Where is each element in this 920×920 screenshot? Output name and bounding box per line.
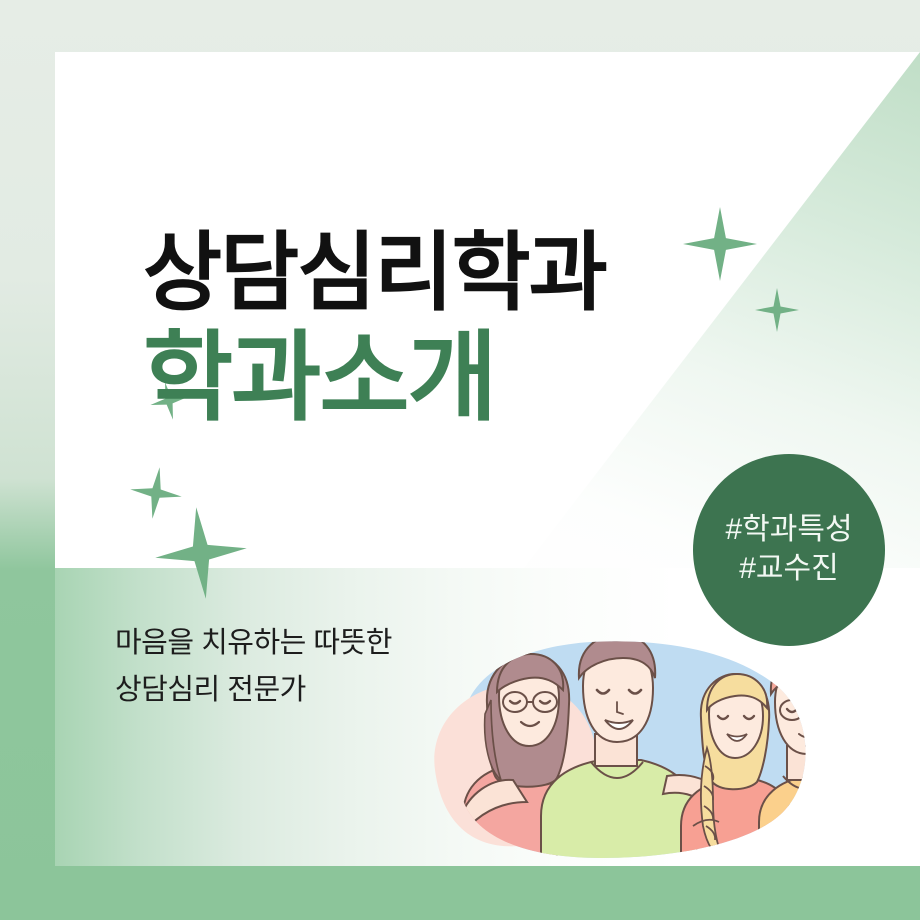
title-line-subject: 학과소개	[143, 328, 606, 426]
hashtag-faculty: #교수진	[739, 551, 839, 588]
students-illustration	[405, 630, 825, 866]
tagline-line-2: 상담심리 전문가	[115, 667, 392, 714]
tagline-line-1: 마음을 치유하는 따뜻한	[115, 620, 392, 667]
poster-canvas: 상담심리학과 학과소개 #학과특성 #교수진 마음을 치유하는 따뜻한 상담심리…	[0, 0, 920, 920]
page-title: 상담심리학과 학과소개	[143, 230, 606, 426]
tagline: 마음을 치유하는 따뜻한 상담심리 전문가	[115, 620, 392, 714]
hashtag-badge[interactable]: #학과특성 #교수진	[693, 454, 885, 646]
poster-card: 상담심리학과 학과소개 #학과특성 #교수진 마음을 치유하는 따뜻한 상담심리…	[55, 52, 920, 866]
sparkle-icon	[127, 464, 186, 523]
title-line-department: 상담심리학과	[143, 230, 606, 316]
sparkle-icon	[683, 207, 757, 281]
hashtag-department-features: #학과특성	[725, 512, 852, 549]
